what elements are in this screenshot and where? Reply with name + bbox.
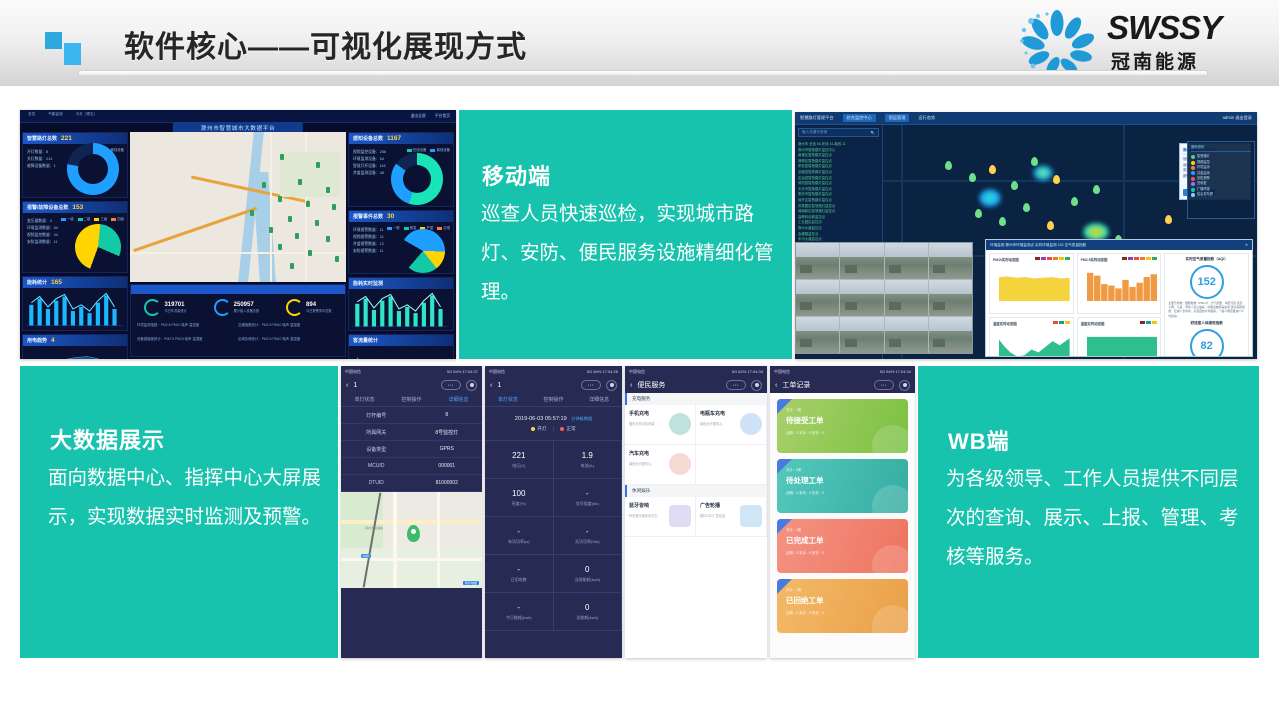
metric-label: 信号强度(db) bbox=[576, 501, 599, 507]
row-value: 000001 bbox=[412, 463, 483, 469]
kpi-label: 今日报警事件总数 bbox=[306, 308, 332, 313]
dash-rcard-2-caption: 能耗实时监测 bbox=[353, 280, 383, 287]
status-right: 5G 84% 17:04:34 bbox=[732, 369, 763, 374]
dash-top-item-2: 今天（周五） bbox=[76, 112, 98, 116]
close-icon[interactable]: ✕ bbox=[1245, 243, 1248, 247]
row-value: GPRS bbox=[412, 446, 483, 452]
phone-nav-title: 便民服务 bbox=[637, 380, 721, 390]
stat-line: 视频报警数量：21 bbox=[353, 234, 384, 241]
row-value: 8号监控灯 bbox=[412, 429, 483, 436]
dash-rcard-1-value: 30 bbox=[387, 213, 394, 220]
card-title: 已回绝工单 bbox=[786, 595, 899, 606]
phone-nav-title: 1 bbox=[353, 382, 436, 389]
aqi-main-desc: 主要污染物：细颗粒物（PM2.5） 空气质量：中度污染 适宜人群：儿童、老年人及… bbox=[1168, 301, 1245, 318]
row-key: 设备类型 bbox=[341, 446, 412, 453]
web-panel-title: WB端 bbox=[948, 424, 1010, 456]
new-badge-icon bbox=[777, 519, 792, 534]
detail-row: MCUID000001 bbox=[341, 458, 482, 475]
kpi-ring-icon bbox=[286, 299, 303, 316]
decoration-square-1 bbox=[45, 32, 62, 49]
kpi-ring-icon bbox=[214, 299, 231, 316]
chart-legend bbox=[1121, 257, 1157, 261]
pm25-chart-card: PM2.5实时动态图 bbox=[1077, 253, 1162, 314]
dashboard-left-column: 智慧路灯总数221 在线设备离线设备 开灯数量：8 关灯数量：212 故障设备数… bbox=[22, 132, 128, 357]
detail-row: 设备类型GPRS bbox=[341, 441, 482, 458]
stat-line: 故障设备数量：1 bbox=[27, 163, 56, 170]
detail-row: 灯杆编号8 bbox=[341, 407, 482, 424]
dash-card-alarm-total: 报警/故障设备总数153 一级 二级 三级 四级 变压器数量：4 环境监测数量：… bbox=[22, 201, 128, 273]
dash-rcard-1-stats: 环境报警数量：11 视频报警数量：21 井盖报警数量：12 安防报警数量：11 bbox=[353, 227, 384, 255]
chart-legend bbox=[1034, 257, 1070, 261]
company-logo: SWSSY 冠南能源 bbox=[1011, 6, 1261, 80]
legend-label: 离线设备 bbox=[436, 148, 450, 152]
metric-cell: 0当前能耗(kwh) bbox=[554, 555, 623, 593]
section-header-charging: 充电服务 bbox=[625, 393, 767, 405]
dashboard-kpis: 319701 今日车流量统计 250957 累计接入设备总数 894 bbox=[131, 294, 345, 316]
gis-navbar[interactable]: 智慧路灯管理平台 综合监控中心 图层管理 运行态势 admin 退出登录 bbox=[795, 112, 1257, 125]
service-item-ebike-charging[interactable]: 电瓶车充电 绿色出行更省心 bbox=[696, 405, 767, 445]
pm10-area-chart bbox=[999, 270, 1070, 301]
dash-card-energy-monitor: 能耗实时监测 bbox=[348, 277, 454, 331]
dash-card-0-stats: 开灯数量：8 关灯数量：212 故障设备数量：1 bbox=[27, 149, 56, 170]
status-right: 5G 84% 17:04:34 bbox=[880, 369, 911, 374]
row-value: 8 bbox=[412, 412, 483, 418]
dash-exit-fullscreen[interactable]: 退出全屏 bbox=[411, 114, 426, 118]
legend-label: 一般 bbox=[393, 226, 400, 230]
dashboard-bottom-banner-card: 319701 今日车流量统计 250957 累计接入设备总数 894 bbox=[130, 284, 346, 357]
camera-tile[interactable] bbox=[929, 317, 972, 353]
tab-lamp-status[interactable]: 单灯状态 bbox=[485, 396, 531, 403]
metric-label: 日用电数 bbox=[511, 577, 527, 583]
metric-label: 有功功率(w) bbox=[508, 539, 530, 545]
footer-line: 设备健康度统计：PM2.5 PM10 噪声 温湿度 bbox=[137, 335, 238, 344]
dashboard-bottom-banner bbox=[131, 285, 345, 294]
phone-detail-list: 灯杆编号8 所属网关8号监控灯 设备类型GPRS MCUID000001 DTU… bbox=[341, 407, 482, 658]
energy-bar-chart bbox=[23, 288, 127, 330]
dash-card-trend: 用电趋势4 bbox=[22, 334, 128, 359]
back-icon[interactable]: ‹ bbox=[490, 382, 492, 389]
dashboard-footer-row-1: 环境监测指数：PM2.5 PM10 噪声 温湿度 交通指数统计：PM2.5 PM… bbox=[131, 316, 345, 330]
gis-search-box[interactable]: 输入关键字查询 🔍 bbox=[798, 128, 879, 137]
target-icon[interactable] bbox=[751, 380, 762, 391]
metric-cell: -信号强度(db) bbox=[554, 479, 623, 517]
phone-map[interactable]: 滁州市南谯路 G36 腾讯地图 bbox=[341, 492, 482, 588]
metrics-grid: 221电压(V) 1.9电流(A) 100亮度(%) -信号强度(db) -有功… bbox=[485, 440, 622, 631]
dash-home[interactable]: 平台首页 bbox=[435, 114, 450, 118]
camera-tile[interactable] bbox=[796, 280, 839, 316]
pie-chart bbox=[75, 224, 121, 270]
metric-label: 无功功率(Var) bbox=[575, 539, 600, 545]
stat-line: 安防报警数量：11 bbox=[353, 248, 384, 255]
dash-rcard-0-legend: 在线设备 离线设备 bbox=[407, 147, 450, 152]
work-order-card-pending-process[interactable]: 共计：0条 待处理工单 近期：0 本月：0 历史：0 bbox=[777, 459, 908, 513]
page-title: 软件核心——可视化展现方式 bbox=[124, 22, 527, 66]
ebike-charging-icon bbox=[740, 413, 762, 435]
new-badge-icon bbox=[777, 459, 792, 474]
phone-navbar[interactable]: ‹ 便民服务 ⋯ bbox=[625, 377, 767, 393]
metric-value: - bbox=[586, 527, 589, 536]
metric-value: - bbox=[517, 603, 520, 612]
service-item-ad-carousel[interactable]: 广告轮播 路灯LED广告信息 bbox=[696, 497, 767, 537]
ad-screen-icon bbox=[740, 505, 762, 527]
dashboard-screenshot[interactable]: 总览 气象监测 今天（周五） 退出全屏 平台首页 滁州市智慧城市大数据平台 智慧… bbox=[20, 110, 456, 359]
reading-timestamp-row: 2019-06-03 05:57:19 分钟级数据 bbox=[485, 407, 622, 426]
services-list: 充电服务 手机充电 随时补充手机电量 电瓶车充电 绿色出行更省心 汽车充电 bbox=[625, 393, 767, 658]
stat-line: 智慧灯杆设备：116 bbox=[353, 163, 386, 170]
gis-nav-item-monitor[interactable]: 综合监控中心 bbox=[843, 114, 876, 122]
dash-card-2-value: 165 bbox=[51, 279, 62, 286]
dash-card-0-caption: 智慧路灯总数 bbox=[27, 135, 57, 142]
aqi-window-titlebar: 环境监测 滁州市环境监测点 实时环境监测 152 空气质量指数 ✕ bbox=[986, 240, 1252, 250]
target-icon[interactable] bbox=[606, 380, 617, 391]
aqi-summary-card: 实时空气质量指数（AQI） 152 主要污染物：细颗粒物（PM2.5） 空气质量… bbox=[1164, 253, 1249, 357]
legend-label: 三级 bbox=[100, 217, 107, 221]
dash-card-2-caption: 能耗统计 bbox=[27, 279, 47, 286]
lamp-on-label: 开灯 bbox=[537, 426, 546, 431]
bluetooth-speaker-icon bbox=[669, 505, 691, 527]
bigdata-panel-body: 面向数据中心、指挥中心大屏展示，实现数据实时监测及预警。 bbox=[48, 459, 326, 537]
camera-wall[interactable] bbox=[795, 242, 973, 354]
new-badge-icon bbox=[777, 399, 792, 414]
service-item-empty bbox=[696, 445, 767, 485]
kpi-label: 今日车流量统计 bbox=[164, 308, 186, 313]
city-map[interactable] bbox=[130, 132, 346, 282]
phone-charging-icon bbox=[669, 413, 691, 435]
phone-nav-title: 工单记录 bbox=[782, 380, 869, 390]
trend-area-chart bbox=[23, 346, 127, 359]
map-label: 滁州市南谯路 bbox=[365, 526, 383, 530]
map-marker-icon bbox=[407, 525, 420, 542]
row-key: 所属网关 bbox=[341, 429, 412, 436]
reading-timestamp: 2019-06-03 05:57:19 bbox=[515, 416, 567, 422]
humidity-area-chart bbox=[1087, 334, 1158, 357]
phone-status-bar: 中国电信 5G 84% 17:04:34 bbox=[770, 366, 915, 377]
work-order-list: 共计：1条 待接受工单 近期：0 本月：0 历史：0 共计：0条 待处理工单 近… bbox=[770, 399, 915, 658]
gis-nav-brand: 智慧路灯管理平台 bbox=[800, 115, 834, 121]
work-order-card-rejected[interactable]: 共计：1条 已回绝工单 近期：0 本月：0 历史：0 bbox=[777, 579, 908, 633]
new-badge-icon bbox=[777, 579, 792, 594]
camera-tile[interactable] bbox=[840, 243, 883, 279]
work-order-card-completed[interactable]: 共计：1条 已完成工单 近期：0 本月：0 历史：0 bbox=[777, 519, 908, 573]
card-title: 已完成工单 bbox=[786, 535, 899, 546]
work-order-card-pending-accept[interactable]: 共计：1条 待接受工单 近期：0 本月：0 历史：0 bbox=[777, 399, 908, 453]
row-key: DTUID bbox=[341, 480, 412, 486]
dash-rcard-0-stats: 视频监控设备：256 环境监测设备：54 智慧灯杆设备：116 井盖监测设备：4… bbox=[353, 149, 386, 177]
gis-screenshot[interactable]: 智慧路灯管理平台 综合监控中心 图层管理 运行态势 admin 退出登录 输入关… bbox=[795, 112, 1257, 359]
energy-monitor-bar-chart bbox=[349, 289, 453, 331]
stat-line: 环境报警数量：11 bbox=[353, 227, 384, 234]
back-icon[interactable]: ‹ bbox=[630, 382, 632, 389]
status-right: 5G 84% 17:04:26 bbox=[587, 369, 618, 374]
donut-chart bbox=[391, 153, 443, 205]
metric-label: 亮度(%) bbox=[512, 501, 526, 507]
dash-card-lamp-total: 智慧路灯总数221 在线设备离线设备 开灯数量：8 关灯数量：212 故障设备数… bbox=[22, 132, 128, 198]
metric-value: 221 bbox=[512, 451, 525, 460]
metric-label: 当前能耗(kwh) bbox=[574, 577, 600, 583]
logo-wordmark: SWSSY bbox=[1107, 10, 1221, 46]
mobile-text-panel: 移动端 巡查人员快速巡检，实现城市路灯、安防、便民服务设施精细化管理。 bbox=[459, 110, 792, 359]
phone-screenshot-lamp-detail[interactable]: 中国电信 5G 84% 17:04:37 ‹ 1 ⋯ 单灯状态 控制操作 详细信… bbox=[341, 366, 482, 658]
dashboard-top-right-items[interactable]: 退出全屏 平台首页 bbox=[403, 114, 450, 119]
target-icon[interactable] bbox=[899, 380, 910, 391]
row-value: 81000002 bbox=[412, 480, 483, 486]
metric-cell: -今日能耗(kwh) bbox=[485, 593, 554, 631]
card-count: 共计：1条 bbox=[786, 407, 899, 412]
metric-value: - bbox=[517, 565, 520, 574]
phone-tabs[interactable]: 单灯状态 控制操作 详细信息 bbox=[485, 393, 622, 407]
section-header-entertainment: 休闲娱乐 bbox=[625, 485, 767, 497]
phone-tabs[interactable]: 单灯状态 控制操作 详细信息 bbox=[341, 393, 482, 407]
aqi-main-heading: 实时空气质量指数（AQI） bbox=[1168, 257, 1245, 262]
card-title: 待处理工单 bbox=[786, 475, 899, 486]
dash-card-1-value: 153 bbox=[72, 204, 83, 211]
lamp-state-row: 开灯 | 正常 bbox=[485, 426, 622, 440]
dash-card-flow: 客流量统计 bbox=[348, 334, 454, 359]
chart-legend bbox=[1052, 321, 1070, 325]
donut-chart bbox=[67, 143, 119, 195]
pm10-chart-card: PM10实时动态图 bbox=[989, 253, 1074, 314]
card-count: 共计：1条 bbox=[786, 527, 899, 532]
status-right: 5G 84% 17:04:37 bbox=[447, 369, 478, 374]
more-icon[interactable]: ⋯ bbox=[441, 380, 461, 390]
camera-tile[interactable] bbox=[885, 243, 928, 279]
flow-area-chart bbox=[349, 346, 453, 359]
card-title: 待接受工单 bbox=[786, 415, 899, 426]
metric-cell: 1.9电流(A) bbox=[554, 441, 623, 479]
phone-status-bar: 中国电信 5G 84% 17:04:26 bbox=[485, 366, 622, 377]
metric-value: - bbox=[586, 489, 589, 498]
legend-label: 信息发布屏 bbox=[1197, 192, 1213, 197]
humidity-chart-card: 湿度实时动态图 bbox=[1077, 317, 1162, 357]
camera-tile[interactable] bbox=[840, 317, 883, 353]
metric-cell: 100亮度(%) bbox=[485, 479, 554, 517]
web-text-panel: WB端 为各级领导、工作人员提供不同层次的查询、展示、上报、管理、考核等服务。 bbox=[918, 366, 1259, 658]
search-icon[interactable]: 🔍 bbox=[871, 131, 875, 135]
dash-rcard-3-caption: 客流量统计 bbox=[353, 337, 378, 344]
dashboard-center-column: 319701 今日车流量统计 250957 累计接入设备总数 894 bbox=[130, 132, 346, 357]
stat-line: 环境监测设备：54 bbox=[353, 156, 386, 163]
camera-tile[interactable] bbox=[840, 280, 883, 316]
phone-navbar[interactable]: ‹ 1 ⋯ bbox=[485, 377, 622, 393]
dash-card-energy: 能耗统计165 bbox=[22, 276, 128, 331]
camera-tile[interactable] bbox=[929, 243, 972, 279]
metric-value: 0 bbox=[585, 565, 589, 574]
carrier-label: 中国电信 bbox=[489, 369, 505, 375]
aqi-second-heading: 舒适度人体感觉指数 bbox=[1168, 321, 1245, 326]
pm25-bar-chart bbox=[1087, 270, 1158, 301]
kpi-label: 累计接入设备总数 bbox=[234, 308, 260, 313]
dash-card-sensor-total: 感知设备总数1167 在线设备 离线设备 视频监控设备：256 环境监测设备：5… bbox=[348, 132, 454, 207]
tab-detail[interactable]: 详细信息 bbox=[576, 396, 622, 403]
map-attribution: 腾讯地图 bbox=[463, 581, 479, 585]
metric-cell: -无功功率(Var) bbox=[554, 517, 623, 555]
card-count: 共计：1条 bbox=[786, 587, 899, 592]
gis-nav-user[interactable]: admin 退出登录 bbox=[1223, 115, 1252, 121]
dashboard-footer-row-2: 设备健康度统计：PM2.5 PM10 噪声 温湿度 区域负荷统计：PM2.5 P… bbox=[131, 330, 345, 344]
stat-line: 井盖报警数量：12 bbox=[353, 241, 384, 248]
footer-line: 交通指数统计：PM2.5 PM10 噪声 温湿度 bbox=[238, 321, 339, 330]
tab-lamp-status[interactable]: 单灯状态 bbox=[341, 396, 388, 403]
dash-rcard-0-caption: 感知设备总数 bbox=[353, 135, 383, 142]
temperature-area-chart bbox=[999, 334, 1070, 357]
header-divider bbox=[78, 70, 1208, 77]
gis-legend-panel: 图例说明 智慧路灯 视频监控 环境监测 井盖监测 安防报警 充电桩 广播终端 信… bbox=[1187, 141, 1255, 219]
dashboard-top-left-items: 总览 气象监测 今天（周五） bbox=[28, 112, 109, 117]
dash-card-1-legend: 一级 二级 三级 四级 bbox=[61, 216, 124, 221]
phone-status-bar: 中国电信 5G 84% 17:04:37 bbox=[341, 366, 482, 377]
legend-title: 图例说明 bbox=[1191, 145, 1251, 152]
carrier-label: 中国电信 bbox=[345, 369, 361, 375]
decoration-square-2 bbox=[64, 43, 81, 65]
dash-card-0-value: 221 bbox=[61, 135, 72, 142]
detail-row: DTUID81000002 bbox=[341, 475, 482, 492]
metric-cell: -有功功率(w) bbox=[485, 517, 554, 555]
dash-card-3-value: 4 bbox=[51, 337, 55, 344]
mobile-panel-title: 移动端 bbox=[482, 159, 551, 191]
row-key: MCUID bbox=[341, 463, 412, 469]
stat-line: 变压器数量：4 bbox=[27, 218, 58, 225]
lamp-ok-label: 正常 bbox=[566, 426, 575, 431]
legend-row: 信息发布屏 bbox=[1191, 192, 1251, 197]
carrier-label: 中国电信 bbox=[629, 369, 645, 375]
reading-tag[interactable]: 分钟级数据 bbox=[571, 416, 592, 421]
slide-header: 软件核心——可视化展现方式 SWSSY 冠南能源 bbox=[0, 0, 1279, 86]
more-icon[interactable]: ⋯ bbox=[581, 380, 601, 390]
more-icon[interactable]: ⋯ bbox=[726, 380, 746, 390]
metric-cell: 0总能耗(kwh) bbox=[554, 593, 623, 631]
metric-label: 电流(A) bbox=[581, 463, 594, 469]
aqi-second-value: 82 bbox=[1190, 329, 1224, 357]
service-item-phone-charging[interactable]: 手机充电 随时补充手机电量 bbox=[625, 405, 696, 445]
footer-line: 区域负荷统计：PM2.5 PM10 噪声 温湿度 bbox=[238, 335, 339, 344]
gis-nav-item-layers[interactable]: 图层管理 bbox=[885, 114, 910, 122]
stat-line: 安防监测数量：11 bbox=[27, 239, 58, 246]
tab-control[interactable]: 控制操作 bbox=[388, 396, 435, 403]
phone-navbar[interactable]: ‹ 1 ⋯ bbox=[341, 377, 482, 393]
kpi-item: 894 今日报警事件总数 bbox=[286, 299, 332, 316]
metric-label: 总能耗(kwh) bbox=[576, 615, 598, 621]
kpi-ring-icon bbox=[144, 299, 161, 316]
mobile-panel-body: 巡查人员快速巡检，实现城市路灯、安防、便民服务设施精细化管理。 bbox=[481, 195, 781, 312]
phone-screenshot-services[interactable]: 中国电信 5G 84% 17:04:34 ‹ 便民服务 ⋯ 充电服务 手机充电 … bbox=[625, 366, 767, 658]
web-panel-body: 为各级领导、工作人员提供不同层次的查询、展示、上报、管理、考核等服务。 bbox=[946, 460, 1246, 577]
footer-line: 环境监测指数：PM2.5 PM10 噪声 温湿度 bbox=[137, 321, 238, 330]
tab-control[interactable]: 控制操作 bbox=[531, 396, 577, 403]
stat-line: 视频监控设备：256 bbox=[353, 149, 386, 156]
back-icon[interactable]: ‹ bbox=[775, 382, 777, 389]
lamp-on-icon bbox=[531, 427, 535, 431]
phone-screenshot-work-orders[interactable]: 中国电信 5G 84% 17:04:34 ‹ 工单记录 ⋯ 共计：1条 待接受工… bbox=[770, 366, 915, 658]
kpi-item: 250957 累计接入设备总数 bbox=[214, 299, 260, 316]
detail-row: 所属网关8号监控灯 bbox=[341, 424, 482, 441]
dash-card-1-stats: 变压器数量：4 环境监测数量：54 视频监控数量：44 安防监测数量：11 bbox=[27, 218, 58, 246]
dash-card-3-caption: 用电趋势 bbox=[27, 337, 47, 344]
row-key: 灯杆编号 bbox=[341, 412, 412, 419]
dash-card-events: 报警事件总数30 一般 紧急 严重 灾难 环境报警数量：11 视频报警数量：21… bbox=[348, 210, 454, 274]
camera-tile[interactable] bbox=[885, 317, 928, 353]
environment-monitor-window[interactable]: 环境监测 滁州市环境监测点 实时环境监测 152 空气质量指数 ✕ PM10实时… bbox=[985, 239, 1253, 357]
dash-rcard-0-value: 1167 bbox=[387, 135, 401, 142]
service-item-bluetooth-speaker[interactable]: 蓝牙音响 怀念音乐陪伴你左右 bbox=[625, 497, 696, 537]
dash-top-item-0: 总览 bbox=[28, 112, 35, 116]
stat-line: 视频监控数量：44 bbox=[27, 232, 58, 239]
dash-card-1-caption: 报警/故障设备总数 bbox=[27, 204, 68, 211]
carrier-label: 中国电信 bbox=[774, 369, 790, 375]
car-charging-icon bbox=[669, 453, 691, 475]
metric-label: 电压(V) bbox=[512, 463, 525, 469]
temperature-chart-card: 温度实时动态图 bbox=[989, 317, 1074, 357]
legend-label: 在线设备 bbox=[413, 148, 427, 152]
kpi-item: 319701 今日车流量统计 bbox=[144, 299, 186, 316]
phone-metrics: 2019-06-03 05:57:19 分钟级数据 开灯 | 正常 221电压(… bbox=[485, 407, 622, 658]
camera-tile[interactable] bbox=[885, 280, 928, 316]
target-icon[interactable] bbox=[466, 380, 477, 391]
metric-value: - bbox=[517, 527, 520, 536]
bigdata-text-panel: 大数据展示 面向数据中心、指挥中心大屏展示，实现数据实时监测及预警。 bbox=[20, 366, 338, 658]
phone-status-bar: 中国电信 5G 84% 17:04:34 bbox=[625, 366, 767, 377]
stat-line: 关灯数量：212 bbox=[27, 156, 56, 163]
metric-value: 100 bbox=[512, 489, 525, 498]
metric-value: 0 bbox=[585, 603, 589, 612]
legend-label: 二级 bbox=[84, 217, 91, 221]
lamp-ok-icon bbox=[560, 427, 564, 431]
stat-line: 井盖监测设备：48 bbox=[353, 170, 386, 177]
metric-cell: 221电压(V) bbox=[485, 441, 554, 479]
pie-chart bbox=[401, 229, 445, 273]
more-icon[interactable]: ⋯ bbox=[874, 380, 894, 390]
dash-top-item-1: 气象监测 bbox=[48, 112, 62, 116]
gis-nav-item-status[interactable]: 运行态势 bbox=[918, 115, 935, 121]
aqi-window-title: 环境监测 滁州市环境监测点 实时环境监测 152 空气质量指数 bbox=[990, 243, 1086, 248]
aqi-main-value: 152 bbox=[1190, 265, 1224, 299]
legend-label: 四级 bbox=[117, 217, 124, 221]
camera-tile[interactable] bbox=[796, 243, 839, 279]
service-item-car-charging[interactable]: 汽车充电 绿色出行更省心 bbox=[625, 445, 696, 485]
metric-cell: -日用电数 bbox=[485, 555, 554, 593]
legend-label: 一级 bbox=[67, 217, 74, 221]
phone-navbar[interactable]: ‹ 工单记录 ⋯ bbox=[770, 377, 915, 393]
camera-tile[interactable] bbox=[796, 317, 839, 353]
dash-rcard-1-caption: 报警事件总数 bbox=[353, 213, 383, 220]
camera-tile[interactable] bbox=[929, 280, 972, 316]
bigdata-panel-title: 大数据展示 bbox=[50, 423, 165, 455]
gis-search-placeholder: 输入关键字查询 bbox=[802, 130, 827, 135]
tab-detail[interactable]: 详细信息 bbox=[435, 396, 482, 403]
phone-screenshot-lamp-status[interactable]: 中国电信 5G 84% 17:04:26 ‹ 1 ⋯ 单灯状态 控制操作 详细信… bbox=[485, 366, 622, 658]
dashboard-right-column: 感知设备总数1167 在线设备 离线设备 视频监控设备：256 环境监测设备：5… bbox=[348, 132, 454, 357]
map-road-badge: G36 bbox=[361, 554, 371, 558]
phone-nav-title: 1 bbox=[497, 382, 576, 389]
water-drop-logo-icon bbox=[1011, 8, 1103, 76]
metric-label: 今日能耗(kwh) bbox=[506, 615, 532, 621]
metric-value: 1.9 bbox=[582, 451, 593, 460]
back-icon[interactable]: ‹ bbox=[346, 382, 348, 389]
slide-canvas: 总览 气象监测 今天（周五） 退出全屏 平台首页 滁州市智慧城市大数据平台 智慧… bbox=[0, 86, 1279, 720]
card-count: 共计：0条 bbox=[786, 467, 899, 472]
stat-line: 开灯数量：8 bbox=[27, 149, 56, 156]
stat-line: 环境监测数量：54 bbox=[27, 225, 58, 232]
chart-legend bbox=[1139, 321, 1157, 325]
